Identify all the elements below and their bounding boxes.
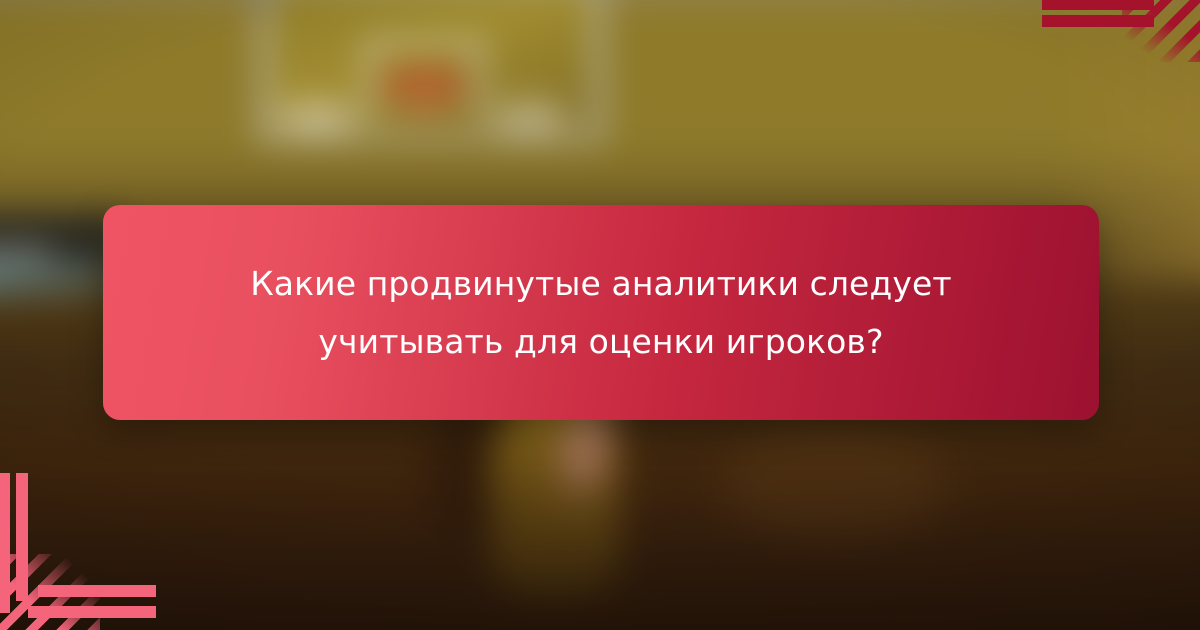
basketball-net — [394, 86, 456, 130]
player-hand — [564, 430, 602, 482]
floor-sheen — [720, 430, 950, 540]
question-card: Какие продвинутые аналитики следует учит… — [103, 205, 1099, 420]
backboard-highlight-right — [490, 100, 570, 134]
social-card-canvas: Какие продвинутые аналитики следует учит… — [0, 0, 1200, 630]
question-text: Какие продвинутые аналитики следует учит… — [191, 255, 1011, 371]
left-teal-band — [0, 260, 110, 294]
left-white-band — [0, 246, 50, 258]
backboard-highlight-left — [278, 100, 358, 134]
